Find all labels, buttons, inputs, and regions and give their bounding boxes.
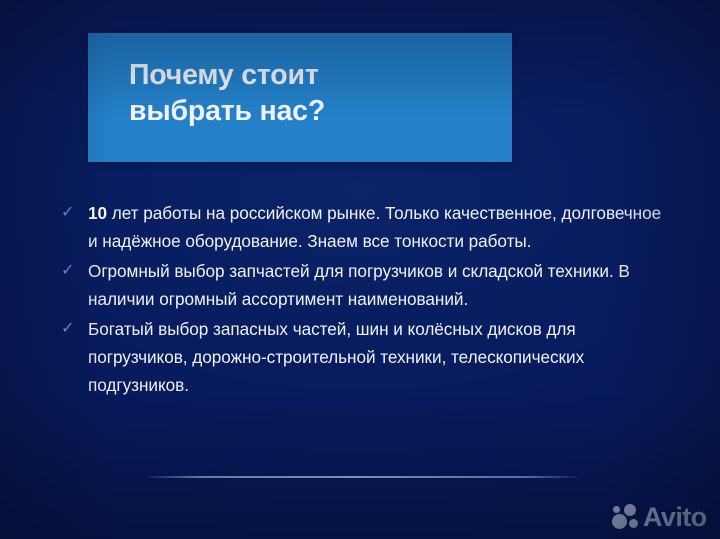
check-icon: ✓: [61, 199, 81, 227]
list-item-text: лет работы на российском рынке. Только к…: [88, 203, 661, 251]
section-divider: [148, 476, 578, 478]
avito-dots-icon: [612, 504, 639, 530]
title-card: Почему стоит выбрать нас?: [88, 33, 512, 162]
check-icon: ✓: [61, 257, 81, 285]
avito-watermark: Avito: [612, 500, 707, 534]
slide-canvas: Почему стоит выбрать нас? ✓ 10 лет работ…: [0, 0, 720, 539]
check-icon: ✓: [61, 315, 81, 343]
avito-wordmark: Avito: [643, 504, 707, 531]
list-item: ✓ Огромный выбор запчастей для погрузчик…: [60, 257, 668, 313]
list-item-text: Огромный выбор запчастей для погрузчиков…: [88, 261, 630, 309]
page-title: Почему стоит выбрать нас?: [129, 57, 498, 129]
list-item: ✓ Богатый выбор запасных частей, шин и к…: [60, 315, 668, 399]
list-item: ✓ 10 лет работы на российском рынке. Тол…: [60, 199, 668, 255]
list-item-lead: 10: [88, 203, 107, 223]
benefits-list: ✓ 10 лет работы на российском рынке. Тол…: [60, 199, 668, 401]
list-item-text: Богатый выбор запасных частей, шин и кол…: [88, 319, 584, 395]
